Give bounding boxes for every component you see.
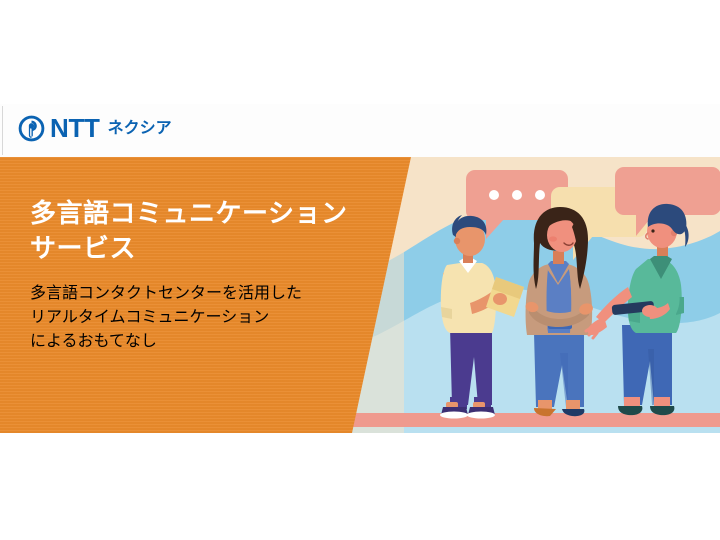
hero-title-line-2: サービス: [30, 232, 370, 267]
hero-text-block: 多言語コミュニケーション サービス 多言語コンタクトセンターを活用した リアルタ…: [30, 197, 370, 367]
hero-title-line-1: 多言語コミュニケーション: [30, 197, 370, 232]
hero-subtitle-line-3: によるおもてなし: [30, 327, 370, 351]
bubble-dot: [489, 190, 499, 200]
hero-subtitle-line-1: 多言語コンタクトセンターを活用した: [30, 279, 370, 303]
bubble-dot: [535, 190, 545, 200]
hero-title: 多言語コミュニケーション サービス: [30, 197, 370, 267]
ntt-logo-mark-icon: [18, 115, 45, 142]
page-root: NTT ネクシア: [0, 0, 720, 540]
hero-banner: 多言語コミュニケーション サービス 多言語コンタクトセンターを活用した リアルタ…: [0, 157, 720, 433]
logo-service-name: ネクシア: [108, 120, 172, 136]
band-left-rule: [2, 106, 3, 155]
hero-subtitle-line-2: リアルタイムコミュニケーション: [30, 303, 370, 327]
bubble-dot: [512, 190, 522, 200]
logo-wordmark: NTT: [50, 115, 100, 141]
brand-logo[interactable]: NTT ネクシア: [18, 112, 172, 144]
